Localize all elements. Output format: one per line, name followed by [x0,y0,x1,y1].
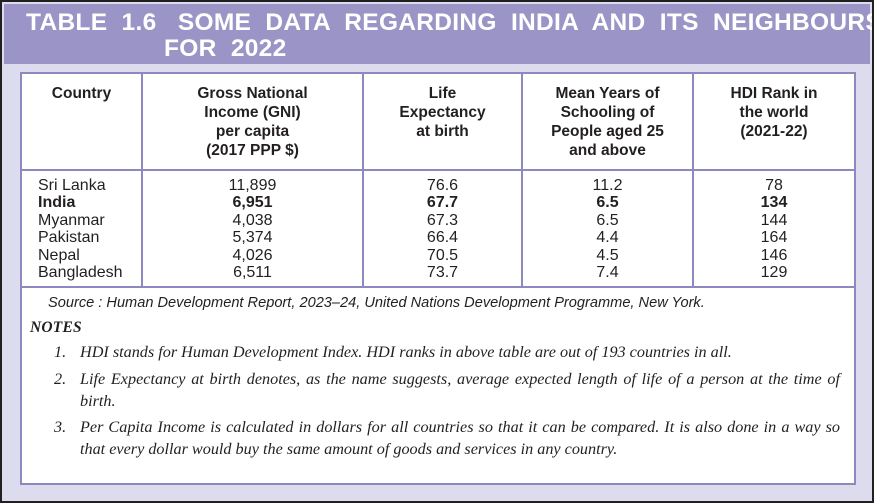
header-line: Schooling of [523,103,692,122]
note-item: 1. HDI stands for Human Development Inde… [22,342,854,364]
header-line: Income (GNI) [143,103,362,122]
header-line: HDI Rank in [694,84,854,103]
header-line: at birth [364,122,521,141]
note-text: Per Capita Income is calculated in dolla… [80,417,840,460]
column-header-gni: Gross National Income (GNI) per capita (… [142,74,363,170]
header-line: per capita [143,122,362,141]
cell-schooling: 4.5 [522,247,693,264]
cell-gni: 6,951 [142,194,363,211]
table-row: Myanmar 4,038 67.3 6.5 144 [22,212,854,229]
cell-life-expectancy: 67.3 [363,212,522,229]
cell-gni: 4,026 [142,247,363,264]
cell-country: Pakistan [22,229,142,246]
data-table: Country Gross National Income (GNI) per … [22,74,854,288]
column-header-life-expectancy: Life Expectancy at birth [363,74,522,170]
header-line: Mean Years of [523,84,692,103]
cell-country: Myanmar [22,212,142,229]
note-text: Life Expectancy at birth denotes, as the… [80,370,840,410]
table-header-row: Country Gross National Income (GNI) per … [22,74,854,170]
cell-country: Nepal [22,247,142,264]
column-header-country: Country [22,74,142,170]
cell-hdi-rank: 164 [693,229,854,246]
cell-life-expectancy: 66.4 [363,229,522,246]
notes-list: 1. HDI stands for Human Development Inde… [22,342,854,460]
cell-country: India [22,194,142,211]
table-header: Country Gross National Income (GNI) per … [22,74,854,170]
note-item: 3. Per Capita Income is calculated in do… [22,417,854,460]
cell-hdi-rank: 144 [693,212,854,229]
cell-hdi-rank: 134 [693,194,854,211]
cell-schooling: 6.5 [522,212,693,229]
header-line: the world [694,103,854,122]
header-line: Gross National [143,84,362,103]
cell-gni: 5,374 [142,229,363,246]
note-text: HDI stands for Human Development Index. … [80,343,732,361]
table-row: India 6,951 67.7 6.5 134 [22,194,854,211]
header-line: and above [523,141,692,160]
note-item: 2. Life Expectancy at birth denotes, as … [22,369,854,412]
table-title-bar: TABLE 1.6 SOME DATA REGARDING INDIA AND … [4,4,870,64]
table-title-line-2: FOR 2022 [4,36,870,62]
cell-life-expectancy: 70.5 [363,247,522,264]
cell-life-expectancy: 76.6 [363,170,522,194]
note-number: 3. [54,417,66,439]
header-line: People aged 25 [523,122,692,141]
cell-life-expectancy: 73.7 [363,264,522,287]
note-number: 2. [54,369,66,391]
cell-gni: 11,899 [142,170,363,194]
cell-country: Sri Lanka [22,170,142,194]
cell-gni: 4,038 [142,212,363,229]
cell-gni: 6,511 [142,264,363,287]
notes-section: NOTES 1. HDI stands for Human Developmen… [22,311,854,460]
cell-hdi-rank: 129 [693,264,854,287]
cell-schooling: 6.5 [522,194,693,211]
header-line: Country [22,84,141,103]
table-figure-screenshot: TABLE 1.6 SOME DATA REGARDING INDIA AND … [0,0,874,503]
table-row: Bangladesh 6,511 73.7 7.4 129 [22,264,854,287]
header-line: (2021-22) [694,122,854,141]
table-body: Sri Lanka 11,899 76.6 11.2 78 India 6,95… [22,170,854,287]
cell-schooling: 4.4 [522,229,693,246]
cell-life-expectancy: 67.7 [363,194,522,211]
table-title-line-1: TABLE 1.6 SOME DATA REGARDING INDIA AND … [4,10,870,36]
note-number: 1. [54,342,66,364]
table-source-note: Source : Human Development Report, 2023–… [22,288,854,311]
cell-schooling: 11.2 [522,170,693,194]
table-row: Pakistan 5,374 66.4 4.4 164 [22,229,854,246]
table-row: Nepal 4,026 70.5 4.5 146 [22,247,854,264]
table-content-panel: Country Gross National Income (GNI) per … [20,72,856,485]
cell-hdi-rank: 78 [693,170,854,194]
notes-heading: NOTES [22,319,854,337]
header-line: (2017 PPP $) [143,141,362,160]
column-header-mean-years-schooling: Mean Years of Schooling of People aged 2… [522,74,693,170]
column-header-hdi-rank: HDI Rank in the world (2021-22) [693,74,854,170]
cell-hdi-rank: 146 [693,247,854,264]
cell-schooling: 7.4 [522,264,693,287]
header-line: Expectancy [364,103,521,122]
header-line: Life [364,84,521,103]
cell-country: Bangladesh [22,264,142,287]
table-row: Sri Lanka 11,899 76.6 11.2 78 [22,170,854,194]
